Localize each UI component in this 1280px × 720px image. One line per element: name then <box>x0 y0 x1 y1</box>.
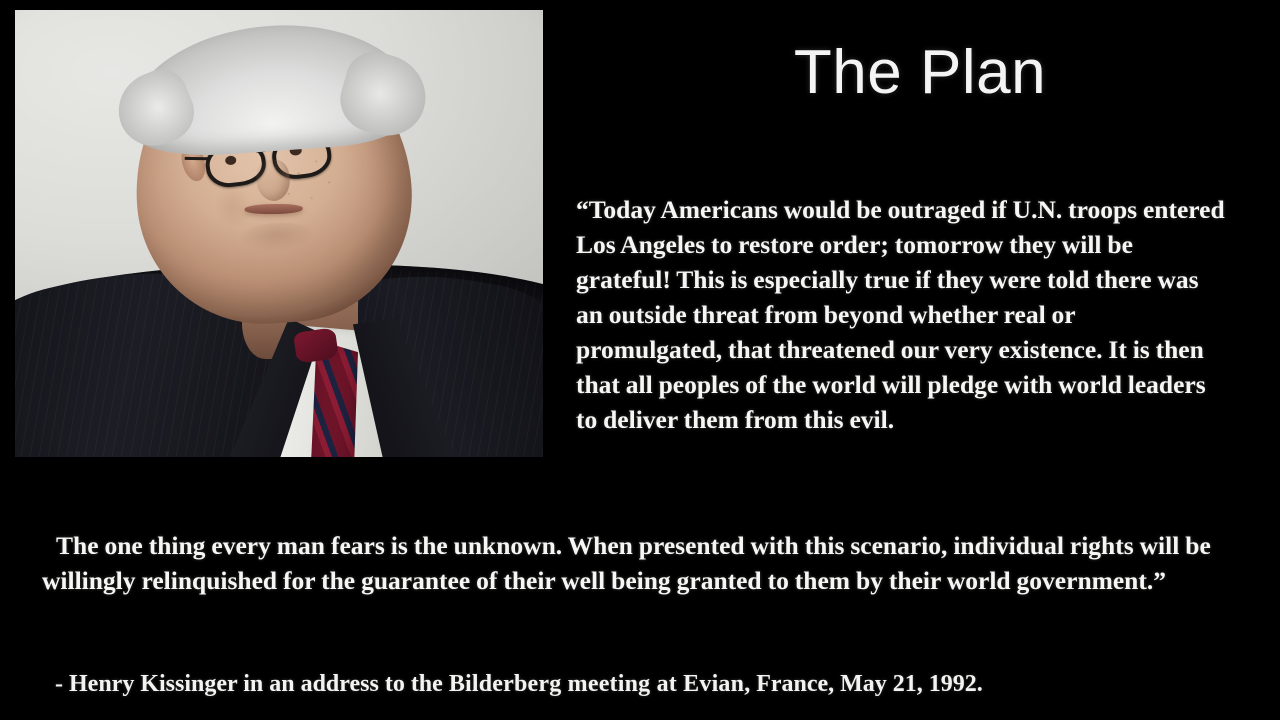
quote-paragraph-primary: “Today Americans would be outraged if U.… <box>576 192 1226 437</box>
attribution-emphasis: Bilderberg meeting at Evian <box>449 671 744 697</box>
slide-title: The Plan <box>575 40 1265 105</box>
kissinger-portrait-photo <box>15 10 543 457</box>
attribution-prefix: - Henry Kissinger in an address to the <box>55 671 449 697</box>
attribution-suffix: , France, May 21, 1992. <box>744 671 983 697</box>
slide-root: The Plan “Today Americans would be outra… <box>0 0 1280 720</box>
eyeglass-temple-arm <box>185 156 208 159</box>
photo-canvas <box>15 10 543 457</box>
mouth-shape <box>245 203 303 214</box>
quote-attribution: - Henry Kissinger in an address to the B… <box>55 668 1235 700</box>
quote-paragraph-secondary: The one thing every man fears is the unk… <box>42 528 1238 598</box>
